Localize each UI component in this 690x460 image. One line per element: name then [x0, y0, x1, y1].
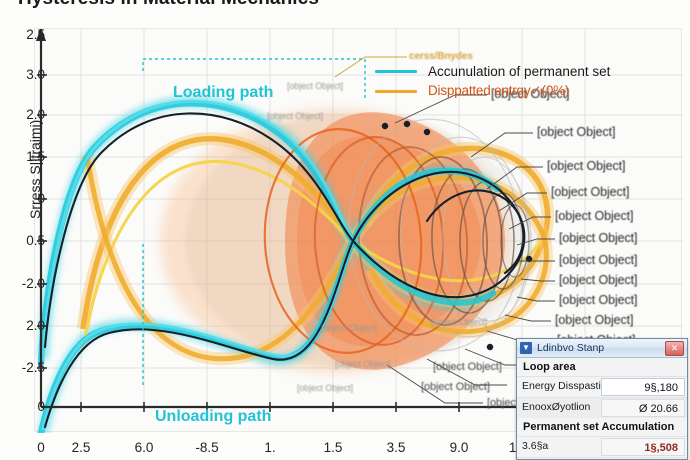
- y-tick-label: 0.5: [5, 233, 45, 248]
- section-header-permanent-set: Permanent set Accumulation: [517, 418, 687, 436]
- x-tick-label: -8.5: [185, 440, 229, 455]
- y-axis-label: Srress S|ltraimi): [27, 120, 43, 219]
- loop-area-dialog[interactable]: ▼ Ldinbvo Stanp ✕ Loop area Energy Dissp…: [516, 338, 688, 460]
- callout-label: [object Object]: [559, 231, 637, 245]
- row-label: EnooxØyotlion: [517, 398, 601, 418]
- plot-tiny-label: [object Object]: [267, 111, 323, 121]
- callout-label: [object Object]: [559, 293, 637, 307]
- y-tick-label: -2.0: [5, 276, 45, 291]
- callout-label: [object Object]: [433, 361, 502, 373]
- legend-item[interactable]: Disppatted entrgy✓(0%): [375, 82, 610, 100]
- y-tick-label: 0: [5, 399, 45, 414]
- row-value[interactable]: Ø 20.66: [601, 399, 685, 417]
- page-title: Hysteresis in Material Mechanics: [18, 0, 319, 10]
- x-tick-label: 9.0: [437, 440, 481, 455]
- plot-tiny-label: [object Object]: [321, 323, 377, 333]
- row-value[interactable]: 9§,180: [601, 378, 685, 396]
- row-label: Energy Disspastion: [517, 377, 601, 397]
- callout-label: [object Object]: [555, 313, 633, 327]
- loading-path-annotation: Loading path: [173, 84, 273, 102]
- chart-legend: Accunulation of permanent set Disppatted…: [375, 62, 610, 102]
- legend-item[interactable]: Accunulation of permanent set: [375, 62, 610, 80]
- callout-label: [object Object]: [551, 185, 629, 199]
- x-tick-label: 6.0: [122, 440, 166, 455]
- screenshot-root: Hysteresis in Material Mechanics: [0, 0, 690, 460]
- plot-tiny-label: [object Object]: [431, 317, 487, 327]
- dialog-title: Ldinbvo Stanp: [537, 342, 665, 354]
- callout-label: [object Object]: [559, 273, 637, 287]
- callout-label: [object Object]: [555, 209, 633, 223]
- close-icon[interactable]: ✕: [665, 341, 684, 356]
- callout-label: [object Object]: [559, 253, 637, 267]
- row-value[interactable]: 1§,508: [601, 438, 685, 456]
- x-tick-label: 1.5: [311, 440, 355, 455]
- filter-icon: ▼: [520, 342, 532, 354]
- section-header-loop-area: Loop area: [517, 358, 687, 376]
- x-tick-label: 0: [19, 440, 63, 455]
- dialog-titlebar[interactable]: ▼ Ldinbvo Stanp ✕: [517, 339, 687, 358]
- callout-label: [object Object]: [421, 381, 490, 393]
- y-tick-label: 2.0: [5, 318, 45, 333]
- plot-tiny-label: [object Object]: [287, 81, 343, 91]
- unloading-path-annotation: Unloading path: [155, 408, 271, 426]
- x-tick-label: 3.5: [374, 440, 418, 455]
- legend-label: Disppatted entrgy✓(0%): [428, 83, 569, 99]
- table-row[interactable]: Energy Disspastion 9§,180: [517, 376, 687, 397]
- y-tick-label: -2.5: [5, 360, 45, 375]
- legend-swatch-dissipated-energy: [375, 90, 417, 93]
- y-tick-label: 3.0: [5, 67, 45, 82]
- plot-tiny-label: [object Object]: [335, 359, 391, 369]
- callout-label: [object Object]: [547, 159, 625, 173]
- gold-note: cerss/Bnydes: [409, 51, 473, 62]
- legend-label: Accunulation of permanent set: [428, 64, 610, 79]
- table-row[interactable]: 3.6§a 1§,508: [517, 436, 687, 457]
- dialog-body: Loop area Energy Disspastion 9§,180 Enoo…: [517, 358, 687, 460]
- table-row[interactable]: EnooxØyotlion Ø 20.66: [517, 397, 687, 418]
- y-tick-label: 2.5: [5, 27, 45, 42]
- callout-label: [object Object]: [537, 125, 615, 139]
- row-label: 3.6§a: [517, 437, 601, 457]
- x-tick-label: 2.5: [59, 440, 103, 455]
- plot-tiny-label: [object Object]: [297, 383, 353, 393]
- x-tick-label: 1.: [248, 440, 292, 455]
- legend-swatch-permanent-set: [375, 70, 417, 73]
